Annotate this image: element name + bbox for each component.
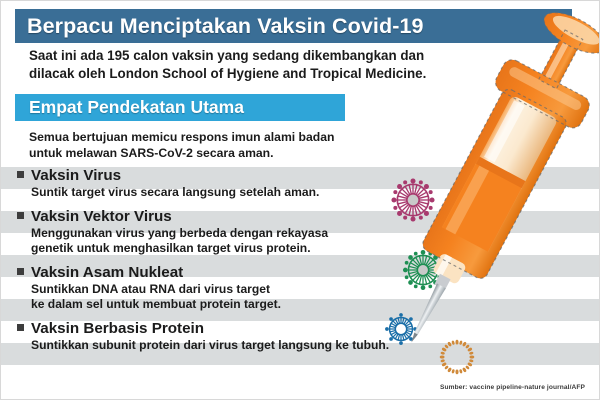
square-bullet-icon: [17, 212, 24, 219]
list-item: Vaksin Virus Suntik target virus secara …: [17, 167, 387, 201]
lede-line-2: dilacak oleh London School of Hygiene an…: [29, 65, 449, 83]
intro-line-2: untuk melawan SARS-CoV-2 secara aman.: [29, 145, 374, 161]
description-line-1: Menggunakan virus yang berbeda dengan re…: [31, 226, 361, 242]
lede-paragraph: Saat ini ada 195 calon vaksin yang sedan…: [29, 47, 449, 83]
intro-line-1: Semua bertujuan memicu respons imun alam…: [29, 129, 374, 145]
page-title: Berpacu Menciptakan Vaksin Covid-19: [15, 14, 424, 39]
list-item-title: Vaksin Berbasis Protein: [31, 320, 204, 337]
list-item: Vaksin Berbasis Protein Suntikkan subuni…: [17, 320, 387, 354]
square-bullet-icon: [17, 268, 24, 275]
list-item-header: Vaksin Berbasis Protein: [17, 320, 387, 337]
list-item: Vaksin Asam Nukleat Suntikkan DNA atau R…: [17, 264, 387, 313]
list-item-description: Menggunakan virus yang berbeda dengan re…: [31, 226, 361, 257]
description-line-1: Suntik target virus secara langsung sete…: [31, 185, 361, 201]
source-credit: Sumber: vaccine pipeline-nature journal/…: [440, 384, 585, 391]
list-item-title: Vaksin Virus: [31, 167, 121, 184]
description-line-1: Suntikkan DNA atau RNA dari virus target: [31, 282, 361, 298]
description-line-2: ke dalam sel untuk membuat protein targe…: [31, 297, 361, 313]
syringe-illustration: [405, 3, 600, 363]
approach-list: Vaksin Virus Suntik target virus secara …: [17, 167, 387, 358]
square-bullet-icon: [17, 171, 24, 178]
list-item-header: Vaksin Virus: [17, 167, 387, 184]
square-bullet-icon: [17, 324, 24, 331]
description-line-1: Suntikkan subunit protein dari virus tar…: [31, 338, 391, 354]
list-item-description: Suntikkan DNA atau RNA dari virus target…: [31, 282, 361, 313]
list-item-header: Vaksin Asam Nukleat: [17, 264, 387, 281]
list-item: Vaksin Vektor Virus Menggunakan virus ya…: [17, 208, 387, 257]
list-item-title: Vaksin Asam Nukleat: [31, 264, 183, 281]
intro-paragraph: Semua bertujuan memicu respons imun alam…: [29, 129, 374, 161]
description-line-2: genetik untuk menghasilkan target virus …: [31, 241, 361, 257]
section-title: Empat Pendekatan Utama: [15, 97, 244, 118]
section-bar: Empat Pendekatan Utama: [15, 94, 345, 121]
list-item-title: Vaksin Vektor Virus: [31, 208, 172, 225]
infographic-root: Berpacu Menciptakan Vaksin Covid-19 Saat…: [0, 0, 600, 400]
lede-line-1: Saat ini ada 195 calon vaksin yang sedan…: [29, 47, 449, 65]
list-item-description: Suntikkan subunit protein dari virus tar…: [31, 338, 391, 354]
list-item-description: Suntik target virus secara langsung sete…: [31, 185, 361, 201]
list-item-header: Vaksin Vektor Virus: [17, 208, 387, 225]
